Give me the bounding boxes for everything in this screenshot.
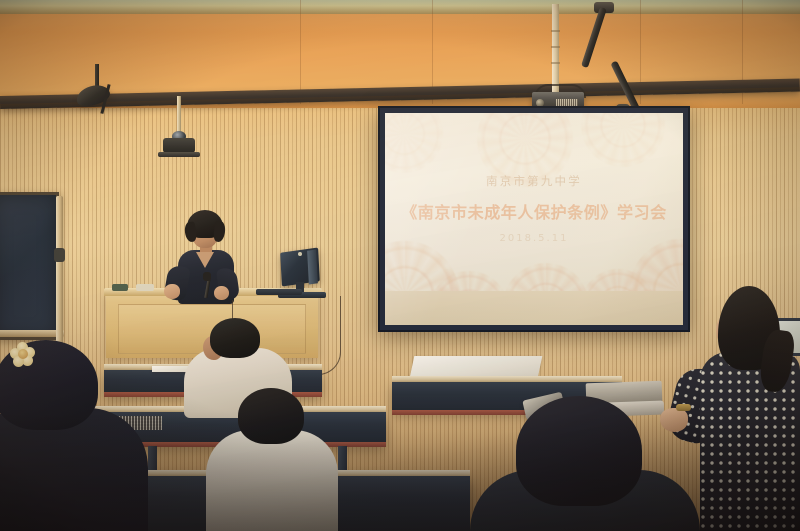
chalk-tray bbox=[0, 330, 64, 337]
ceiling-camera-body bbox=[163, 138, 195, 153]
podium-desk-item bbox=[136, 284, 154, 291]
paper-sheet bbox=[152, 366, 190, 372]
floral-ornament bbox=[385, 113, 443, 173]
projector-drop-pole bbox=[552, 4, 559, 96]
staff-standing-hand bbox=[660, 408, 688, 432]
pole-ring bbox=[551, 46, 560, 48]
keyboard bbox=[256, 289, 302, 295]
desk-paper-stack bbox=[410, 356, 543, 378]
pole-ring bbox=[551, 62, 560, 64]
monitor-indicator bbox=[298, 252, 302, 256]
podium-microphone-icon bbox=[203, 272, 211, 281]
attendee-second-row-body bbox=[206, 430, 338, 531]
slide-title: 《南京市未成年人保护条例》学习会 bbox=[385, 199, 683, 223]
attendee-front-row-head bbox=[210, 318, 260, 358]
board-pole-clamp bbox=[54, 248, 65, 262]
ceiling-panel-line bbox=[300, 0, 301, 104]
pole-ring bbox=[551, 30, 560, 32]
speaker-right-hand bbox=[214, 286, 229, 300]
screen-lower-band bbox=[385, 291, 683, 325]
flower-hair-clip-icon bbox=[10, 342, 36, 366]
projection-screen-surface: 南京市第九中学 《南京市未成年人保护条例》学习会 2018.5.11 bbox=[385, 113, 683, 325]
attendee-second-row-head bbox=[238, 388, 304, 444]
board-support-pole bbox=[56, 196, 63, 348]
wristwatch-icon bbox=[676, 404, 691, 411]
slide-subtitle: 南京市第九中学 bbox=[385, 173, 683, 189]
speaker-person bbox=[170, 208, 240, 296]
monitor-side-edge bbox=[307, 249, 318, 284]
floral-ornament bbox=[581, 113, 665, 167]
attendee-foreground-right-head bbox=[516, 396, 642, 506]
projection-screen: 南京市第九中学 《南京市未成年人保护条例》学习会 2018.5.11 bbox=[378, 106, 690, 332]
blackboard bbox=[0, 192, 59, 340]
ceiling-camera-plate bbox=[158, 152, 200, 157]
speaker-left-hand bbox=[164, 284, 180, 299]
photo-scene: 南京市第九中学 《南京市未成年人保护条例》学习会 2018.5.11 bbox=[0, 0, 800, 531]
slide-date: 2018.5.11 bbox=[385, 233, 683, 244]
podium-desk-item bbox=[112, 284, 128, 291]
speaker-hair-side bbox=[213, 220, 226, 242]
ceiling-seam bbox=[0, 0, 800, 14]
